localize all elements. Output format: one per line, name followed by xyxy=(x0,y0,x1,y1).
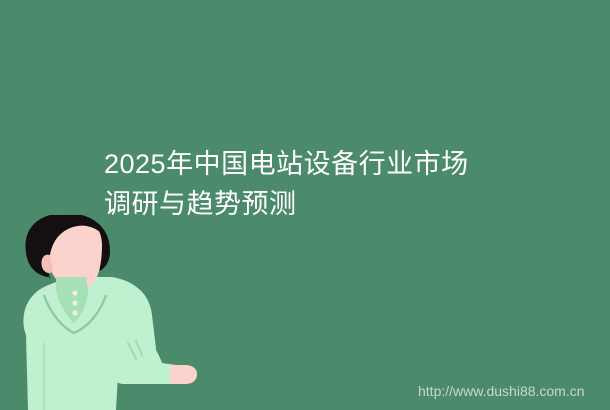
person-illustration xyxy=(0,215,200,410)
collar-button-2 xyxy=(72,300,77,305)
watermark-url: http://www.dushi88.com.cn xyxy=(418,382,585,400)
title-line-2: 调研与趋势预测 xyxy=(104,184,524,224)
collar-button-3 xyxy=(72,310,77,315)
collar-button-1 xyxy=(72,290,77,295)
banner-title: 2025年中国电站设备行业市场 调研与趋势预测 xyxy=(104,144,524,224)
promo-banner: 2025年中国电站设备行业市场 调研与趋势预测 http://www.dushi… xyxy=(0,0,610,410)
title-line-1: 2025年中国电站设备行业市场 xyxy=(104,144,524,184)
hand-shape xyxy=(170,365,197,384)
